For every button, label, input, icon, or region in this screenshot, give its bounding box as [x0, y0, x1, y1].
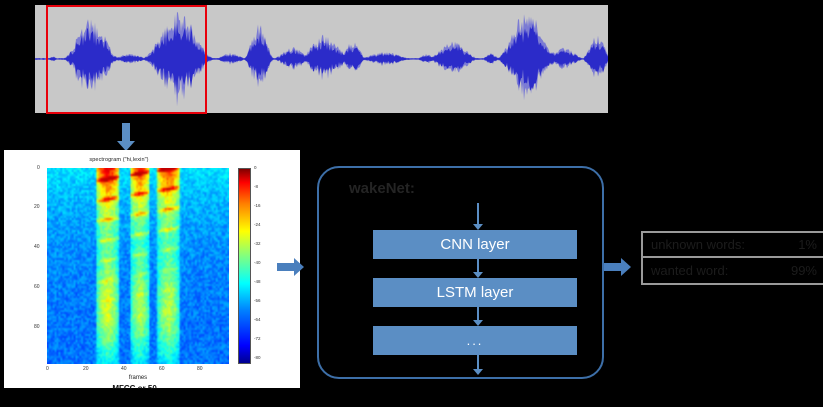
colorbar-tick-6: -48 [254, 279, 261, 284]
spectrogram-footer-label: MFCC or 50 ... [24, 384, 254, 389]
arrow-down-icon [117, 123, 135, 151]
spectrogram-ytick-3: 60 [34, 284, 40, 290]
arrow-right-icon [277, 258, 304, 276]
arrow-down-icon-input [473, 203, 483, 230]
colorbar-tick-5: -40 [254, 260, 261, 265]
unknown-words-label: unknown words: [651, 237, 745, 252]
spectrogram-xaxis-label: frames [47, 375, 229, 381]
spectrogram-colorbar [238, 168, 251, 364]
arrow-down-icon-lstm-to-more [473, 307, 483, 326]
spectrogram-xtick-1: 20 [83, 366, 89, 372]
spectrogram-xtick-0: 0 [46, 366, 49, 372]
layer-cnn[interactable]: CNN layer [373, 230, 577, 259]
wanted-word-label: wanted word: [651, 263, 728, 278]
waveform-selection-box[interactable] [46, 5, 207, 114]
spectrogram-xtick-3: 60 [159, 366, 165, 372]
colorbar-tick-0: 0 [254, 165, 257, 170]
spectrogram-ytick-1: 20 [34, 204, 40, 210]
spectrogram-ytick-0: 0 [37, 165, 40, 171]
spectrogram-figure[interactable]: spectrogram ("hi,lexin") 0 20 40 60 80 0… [4, 150, 300, 388]
layer-lstm-label: LSTM layer [437, 284, 514, 301]
wakenet-container[interactable]: wakeNet: CNN layer LSTM layer ... [317, 166, 604, 379]
spectrogram-ytick-4: 80 [34, 324, 40, 330]
colorbar-tick-7: -56 [254, 298, 261, 303]
wanted-word-value: 99% [763, 263, 817, 278]
prediction-output-table[interactable]: unknown words: 1% wanted word: 99% [641, 231, 823, 285]
spectrogram-xtick-2: 40 [121, 366, 127, 372]
arrow-down-icon-output [473, 355, 483, 375]
colorbar-tick-9: -72 [254, 336, 261, 341]
colorbar-tick-4: -32 [254, 241, 261, 246]
layer-more-label: ... [467, 333, 484, 348]
unknown-words-value: 1% [792, 237, 817, 252]
layer-more[interactable]: ... [373, 326, 577, 355]
arrow-right-icon [604, 258, 631, 276]
colorbar-tick-10: -80 [254, 355, 261, 360]
table-row: wanted word: 99% [643, 258, 823, 283]
colorbar-tick-8: -64 [254, 317, 261, 322]
spectrogram-ytick-2: 40 [34, 244, 40, 250]
layer-cnn-label: CNN layer [440, 236, 509, 253]
table-row: unknown words: 1% [643, 233, 823, 258]
arrow-down-icon-cnn-to-lstm [473, 259, 483, 278]
spectrogram-title: spectrogram ("hi,lexin") [4, 157, 234, 163]
spectrogram-xtick-4: 80 [197, 366, 203, 372]
layer-lstm[interactable]: LSTM layer [373, 278, 577, 307]
colorbar-tick-1: -8 [254, 184, 258, 189]
colorbar-tick-3: -24 [254, 222, 261, 227]
colorbar-tick-2: -16 [254, 203, 261, 208]
wakenet-title: wakeNet: [349, 180, 415, 197]
spectrogram-image [47, 168, 229, 364]
